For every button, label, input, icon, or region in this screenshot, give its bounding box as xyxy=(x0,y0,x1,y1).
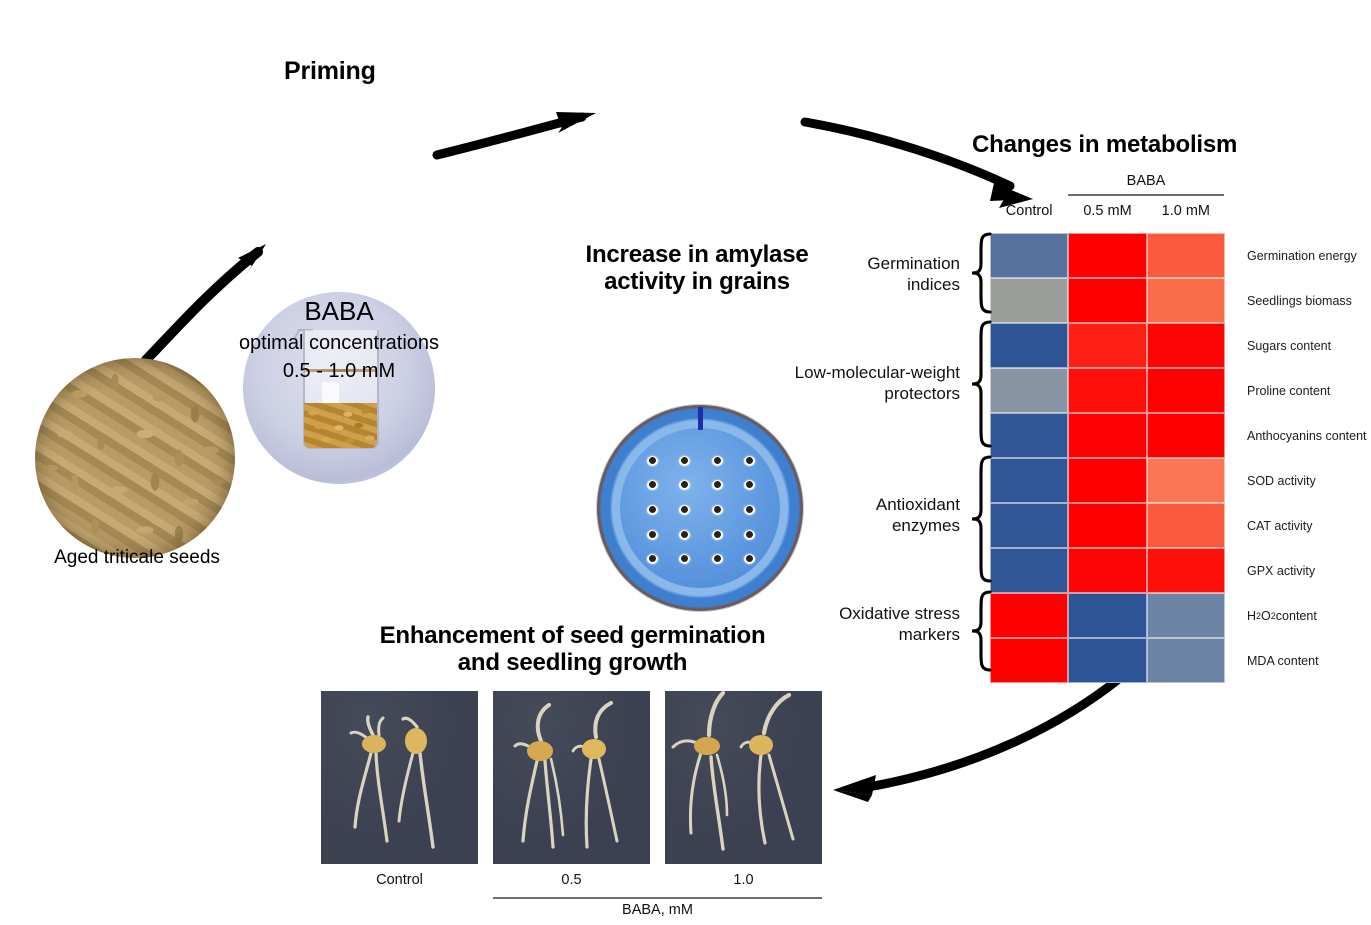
heatmap-col-header: 0.5 mM xyxy=(1068,203,1146,219)
heatmap-cell xyxy=(990,548,1068,593)
heatmap-row-labels: Germination energySeedlings biomassSugar… xyxy=(1247,233,1371,683)
group-label-line: protectors xyxy=(740,384,960,405)
curly-brace-icon xyxy=(972,592,990,670)
heatmap-cell xyxy=(1147,503,1225,548)
heatmap-row xyxy=(990,503,1225,548)
baba-sub1: optimal concentrations xyxy=(205,332,473,355)
group-brace-layer xyxy=(968,228,994,688)
seeds-caption: Aged triticale seeds xyxy=(27,547,247,569)
heatmap-cell xyxy=(990,233,1068,278)
heatmap-column-headers: Control 0.5 mM 1.0 mM xyxy=(990,203,1225,219)
dish-marker-line xyxy=(698,407,703,430)
heatmap-cell xyxy=(1068,638,1146,683)
heatmap-cell xyxy=(1147,413,1225,458)
heatmap-row xyxy=(990,233,1225,278)
heatmap-cell xyxy=(1068,413,1146,458)
enhancement-heading-line2: and seedling growth xyxy=(340,649,805,676)
heatmap-cell xyxy=(1147,368,1225,413)
heatmap-cell xyxy=(1068,323,1146,368)
heatmap-row-label: CAT activity xyxy=(1247,503,1371,548)
heatmap-row xyxy=(990,638,1225,683)
heatmap-row-label: MDA content xyxy=(1247,638,1371,683)
heatmap-cell xyxy=(1147,593,1225,638)
heatmap-row-label: GPX activity xyxy=(1247,548,1371,593)
heatmap-cell xyxy=(990,638,1068,683)
group-label-line: enzymes xyxy=(760,516,960,537)
heatmap-row-label: Proline content xyxy=(1247,368,1371,413)
heatmap-cell xyxy=(1147,233,1225,278)
group-label-line: Low-molecular-weight xyxy=(740,363,960,384)
seedling-illustration xyxy=(493,691,650,864)
heatmap-cell xyxy=(1068,278,1146,323)
heatmap-group-label-antioxidant: Antioxidant enzymes xyxy=(760,495,960,536)
heatmap-cell xyxy=(990,368,1068,413)
heatmap-row-label: Sugars content xyxy=(1247,323,1371,368)
heatmap-col-header: Control xyxy=(990,203,1068,219)
heatmap-row-label: Anthocyanins content xyxy=(1247,413,1371,458)
arrow-right-icon xyxy=(437,112,596,155)
heatmap-cell xyxy=(1147,458,1225,503)
heatmap-row xyxy=(990,458,1225,503)
baba-sub2: 0.5 - 1.0 mM xyxy=(205,360,473,383)
curly-brace-icon xyxy=(972,234,990,312)
metabolism-heading: Changes in metabolism xyxy=(972,131,1237,158)
beaker-label-sticker xyxy=(322,382,339,403)
graphical-abstract-canvas: Priming Increase in amylase activity in … xyxy=(0,0,1371,925)
heatmap-super-header: BABA xyxy=(1068,173,1224,189)
group-label-line: Antioxidant xyxy=(760,495,960,516)
heatmap-row-label: Germination energy xyxy=(1247,233,1371,278)
seedling-axis-label: BABA, mM xyxy=(493,902,822,918)
group-label-line: markers xyxy=(760,625,960,646)
curly-brace-icon xyxy=(972,322,990,446)
heatmap-row xyxy=(990,278,1225,323)
heatmap-cell xyxy=(990,278,1068,323)
heatmap-cell xyxy=(990,503,1068,548)
heatmap-cell xyxy=(1147,638,1225,683)
heatmap-group-label-oxidative: Oxidative stress markers xyxy=(760,604,960,645)
dish-grain-grid xyxy=(636,448,766,572)
seedling-illustration xyxy=(321,691,478,864)
baba-title: BABA xyxy=(243,296,435,327)
seedling-axis-rule xyxy=(493,897,822,899)
heatmap-row xyxy=(990,413,1225,458)
seedling-photo-10 xyxy=(665,691,822,864)
heatmap-cell xyxy=(1147,323,1225,368)
curved-arrow-down-left-icon xyxy=(833,678,1120,802)
seedling-photo-control xyxy=(321,691,478,864)
heatmap-cell xyxy=(1068,593,1146,638)
triticale-seeds-photo-icon xyxy=(35,358,235,558)
heatmap-col-header: 1.0 mM xyxy=(1147,203,1225,219)
heatmap-cell xyxy=(990,593,1068,638)
enhancement-heading: Enhancement of seed germination and seed… xyxy=(340,622,805,677)
heatmap-row xyxy=(990,368,1225,413)
heatmap-cell xyxy=(1068,233,1146,278)
metabolism-heatmap xyxy=(990,233,1225,683)
heatmap-cell xyxy=(1147,548,1225,593)
heatmap-row-label: SOD activity xyxy=(1247,458,1371,503)
enhancement-heading-line1: Enhancement of seed germination xyxy=(340,622,805,649)
heatmap-cell xyxy=(1068,548,1146,593)
heatmap-cell xyxy=(990,413,1068,458)
heatmap-cell xyxy=(1068,458,1146,503)
seedling-caption-05: 0.5 xyxy=(493,872,650,888)
curly-brace-icon xyxy=(972,457,990,581)
heatmap-row xyxy=(990,323,1225,368)
heatmap-row-label: H2O2 content xyxy=(1247,593,1371,638)
heatmap-cell xyxy=(990,458,1068,503)
heatmap-cell xyxy=(1068,503,1146,548)
beaker-grains xyxy=(304,403,377,447)
heatmap-row xyxy=(990,548,1225,593)
seedling-photo-05 xyxy=(493,691,650,864)
group-label-line: Germination xyxy=(760,254,960,275)
heatmap-group-label-lmw: Low-molecular-weight protectors xyxy=(740,363,960,404)
heatmap-group-label-germination: Germination indices xyxy=(760,254,960,295)
heatmap-row xyxy=(990,593,1225,638)
heatmap-row-label: Seedlings biomass xyxy=(1247,278,1371,323)
heatmap-cell xyxy=(990,323,1068,368)
seedling-caption-control: Control xyxy=(321,872,478,888)
seedling-illustration xyxy=(665,691,822,864)
group-label-line: Oxidative stress xyxy=(760,604,960,625)
heatmap-cell xyxy=(1068,368,1146,413)
heatmap-cell xyxy=(1147,278,1225,323)
group-label-line: indices xyxy=(760,275,960,296)
heatmap-super-header-rule xyxy=(1068,194,1224,196)
priming-heading: Priming xyxy=(284,57,376,86)
seedling-caption-10: 1.0 xyxy=(665,872,822,888)
